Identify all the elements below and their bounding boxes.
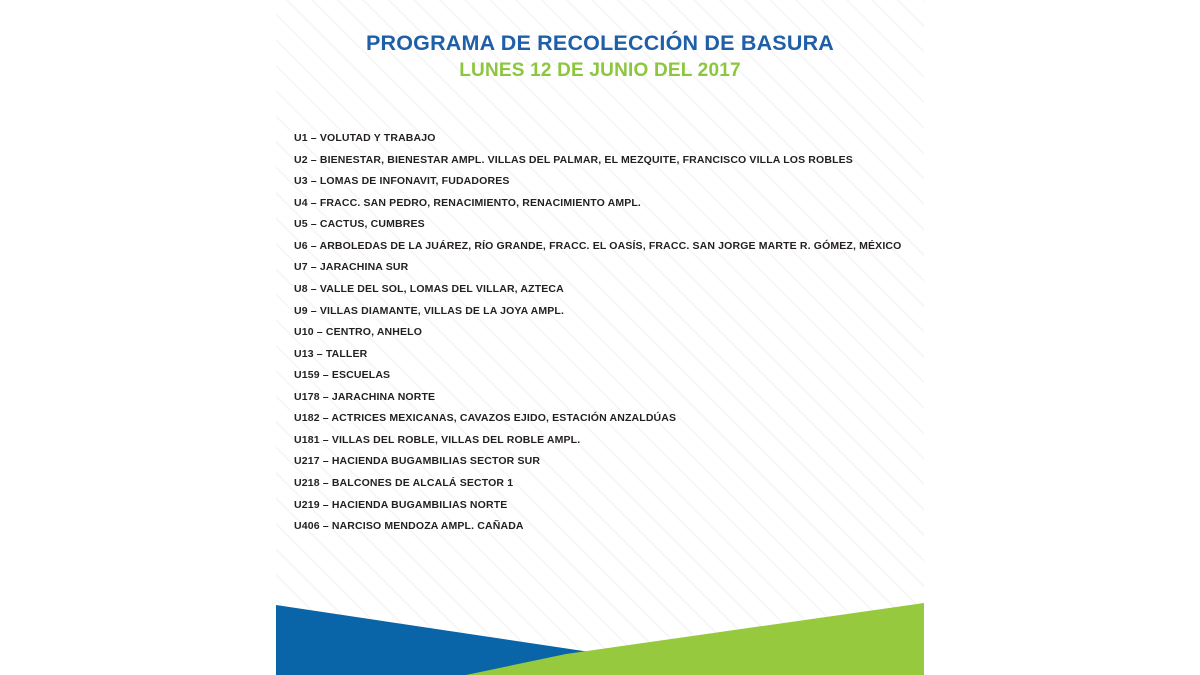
footer-shapes (276, 585, 924, 675)
route-item-label: U406 – NARCISO MENDOZA AMPL. CAÑADA (294, 520, 524, 532)
route-item-label: U1 – VOLUTAD Y TRABAJO (294, 132, 436, 144)
page-subtitle: LUNES 12 DE JUNIO DEL 2017 (276, 59, 924, 83)
route-item-label: U2 – BIENESTAR, BIENESTAR AMPL. VILLAS D… (294, 154, 853, 166)
route-item-label: U159 – ESCUELAS (294, 369, 390, 381)
route-item: U9 – VILLAS DIAMANTE, VILLAS DE LA JOYA … (294, 305, 904, 317)
route-item: U8 – VALLE DEL SOL, LOMAS DEL VILLAR, AZ… (294, 283, 904, 295)
page-title: PROGRAMA DE RECOLECCIÓN DE BASURA (276, 30, 924, 57)
route-item: U10 – CENTRO, ANHELO (294, 326, 904, 338)
route-item-label: U219 – HACIENDA BUGAMBILIAS NORTE (294, 499, 507, 511)
route-item-label: U8 – VALLE DEL SOL, LOMAS DEL VILLAR, AZ… (294, 283, 564, 295)
route-item-label: U217 – HACIENDA BUGAMBILIAS SECTOR SUR (294, 455, 540, 467)
route-item: U218 – BALCONES DE ALCALÁ SECTOR 1 (294, 477, 904, 489)
route-item: U2 – BIENESTAR, BIENESTAR AMPL. VILLAS D… (294, 154, 904, 166)
route-item: U178 – JARACHINA NORTE (294, 391, 904, 403)
route-item-label: U10 – CENTRO, ANHELO (294, 326, 422, 338)
route-item: U7 – JARACHINA SUR (294, 261, 904, 273)
route-item-label: U178 – JARACHINA NORTE (294, 391, 435, 403)
route-item: U6 – ARBOLEDAS DE LA JUÁREZ, RÍO GRANDE,… (294, 240, 904, 252)
route-item: U217 – HACIENDA BUGAMBILIAS SECTOR SUR (294, 455, 904, 467)
route-item-label: U5 – CACTUS, CUMBRES (294, 218, 425, 230)
route-item: U3 – LOMAS DE INFONAVIT, FUDADORES (294, 175, 904, 187)
poster-canvas: PROGRAMA DE RECOLECCIÓN DE BASURA LUNES … (0, 0, 1200, 675)
route-item-label: U218 – BALCONES DE ALCALÁ SECTOR 1 (294, 477, 513, 489)
route-list: U1 – VOLUTAD Y TRABAJOU2 – BIENESTAR, BI… (294, 132, 904, 542)
footer-chevron-graphic (276, 585, 924, 675)
route-item-label: U4 – FRACC. SAN PEDRO, RENACIMIENTO, REN… (294, 197, 641, 209)
route-item-label: U182 – ACTRICES MEXICANAS, CAVAZOS EJIDO… (294, 412, 676, 424)
route-item-label: U9 – VILLAS DIAMANTE, VILLAS DE LA JOYA … (294, 305, 564, 317)
green-wedge (466, 603, 924, 675)
route-item: U159 – ESCUELAS (294, 369, 904, 381)
route-item-label: U181 – VILLAS DEL ROBLE, VILLAS DEL ROBL… (294, 434, 580, 446)
route-item: U5 – CACTUS, CUMBRES (294, 218, 904, 230)
route-item-label: U7 – JARACHINA SUR (294, 261, 408, 273)
poster-header: PROGRAMA DE RECOLECCIÓN DE BASURA LUNES … (276, 30, 924, 83)
route-item: U182 – ACTRICES MEXICANAS, CAVAZOS EJIDO… (294, 412, 904, 424)
route-item: U13 – TALLER (294, 348, 904, 360)
route-item: U219 – HACIENDA BUGAMBILIAS NORTE (294, 499, 904, 511)
route-item: U1 – VOLUTAD Y TRABAJO (294, 132, 904, 144)
route-item: U4 – FRACC. SAN PEDRO, RENACIMIENTO, REN… (294, 197, 904, 209)
route-item: U181 – VILLAS DEL ROBLE, VILLAS DEL ROBL… (294, 434, 904, 446)
route-item-label: U6 – ARBOLEDAS DE LA JUÁREZ, RÍO GRANDE,… (294, 240, 901, 252)
route-item-label: U13 – TALLER (294, 348, 367, 360)
route-item-label: U3 – LOMAS DE INFONAVIT, FUDADORES (294, 175, 510, 187)
route-item: U406 – NARCISO MENDOZA AMPL. CAÑADA (294, 520, 904, 532)
